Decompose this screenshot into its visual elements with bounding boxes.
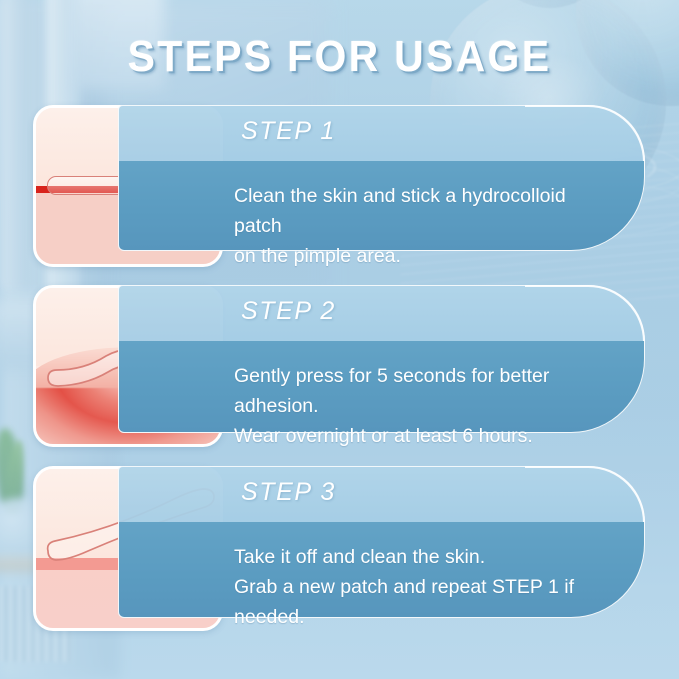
- step-1-card: STEP 1 Clean the skin and stick a hydroc…: [118, 105, 645, 251]
- step-2-body: Gently press for 5 seconds for better ad…: [118, 341, 645, 433]
- step-1-body: Clean the skin and stick a hydrocolloid …: [118, 161, 645, 251]
- step-3-label: STEP 3: [241, 478, 336, 507]
- step-3-text: Take it off and clean the skin. Grab a n…: [234, 542, 584, 632]
- page-title: STEPS FOR USAGE: [24, 32, 655, 82]
- step-1-text: Clean the skin and stick a hydrocolloid …: [234, 181, 584, 271]
- step-3-header-band: STEP 3: [118, 466, 645, 522]
- step-1-header-band: STEP 1: [118, 105, 645, 161]
- step-3-card: STEP 3 Take it off and clean the skin. G…: [118, 466, 645, 618]
- step-2-text: Gently press for 5 seconds for better ad…: [234, 361, 584, 451]
- step-1-label: STEP 1: [241, 117, 336, 146]
- infographic-root: STEPS FOR USAGE STEP 1 Clean the skin an…: [0, 0, 679, 679]
- step-2-header-band: STEP 2: [118, 285, 645, 341]
- step-2-label: STEP 2: [241, 297, 336, 326]
- step-2-card: STEP 2 Gently press for 5 seconds for be…: [118, 285, 645, 433]
- step-3-body: Take it off and clean the skin. Grab a n…: [118, 522, 645, 618]
